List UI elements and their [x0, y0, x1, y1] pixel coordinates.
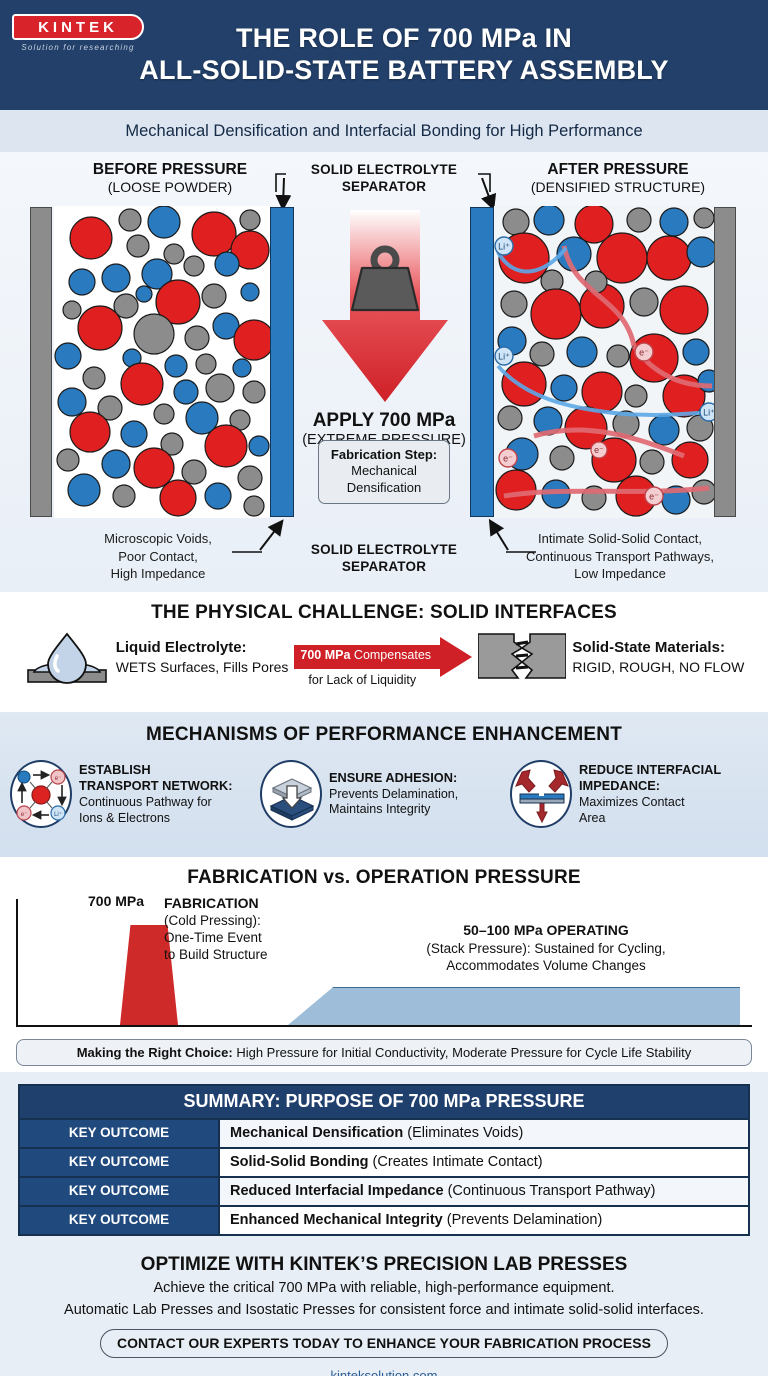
summary-value-1-rest: (Creates Intimate Contact): [369, 1154, 543, 1170]
mechanisms-title: MECHANISMS OF PERFORMANCE ENHANCEMENT: [0, 712, 768, 746]
fabrication-step-box: Fabrication Step: Mechanical Densificati…: [318, 440, 450, 504]
footer-title: OPTIMIZE WITH KINTEK’S PRECISION LAB PRE…: [12, 1254, 756, 1276]
mechanism-text-transport-network: ESTABLISH TRANSPORT NETWORK: Continuous …: [79, 762, 233, 827]
table-row: KEY OUTCOME Enhanced Mechanical Integrit…: [18, 1207, 750, 1236]
before-pressure-title: BEFORE PRESSURE (LOOSE POWDER): [70, 160, 270, 197]
svg-text:e⁻: e⁻: [639, 348, 649, 358]
mechanism-1-desc2: Maintains Integrity: [329, 802, 458, 818]
page-title: THE ROLE OF 700 MPa IN ALL-SOLID-STATE B…: [99, 23, 668, 87]
after-caption-line1: Intimate Solid-Solid Contact,: [500, 530, 740, 548]
separator-bottom-line1: SOLID ELECTROLYTE: [288, 542, 480, 559]
svg-text:e⁻: e⁻: [503, 454, 513, 464]
liquid-electrolyte-desc: WETS Surfaces, Fills Pores: [116, 658, 289, 676]
fabrication-step-title: Fabrication Step:: [331, 447, 437, 462]
page-title-line1: THE ROLE OF 700 MPa IN: [139, 23, 668, 55]
right-electrode: [714, 207, 736, 517]
compensates-arrow-word: Compensates: [350, 648, 431, 662]
table-row: KEY OUTCOME Reduced Interfacial Impedanc…: [18, 1178, 750, 1207]
chart-fab-line3: to Build Structure: [164, 947, 268, 964]
summary-value-2-bold: Reduced Interfacial Impedance: [230, 1183, 444, 1199]
transport-network-icon: e⁻ e⁻ Li⁺: [10, 760, 72, 828]
logo-badge-text: KINTEK: [12, 14, 144, 40]
mechanism-0-desc1: Continuous Pathway for: [79, 795, 233, 811]
summary-heading: SUMMARY: PURPOSE OF 700 MPa PRESSURE: [18, 1084, 750, 1120]
logo-tagline: Solution for researching: [12, 43, 144, 52]
adhesion-layers-icon: [260, 760, 322, 828]
mechanism-2-desc1: Maximizes Contact: [579, 795, 721, 811]
compensates-arrow-subtext: for Lack of Liquidity: [308, 673, 416, 687]
mechanism-item-impedance: REDUCE INTERFACIAL IMPEDANCE: Maximizes …: [510, 760, 758, 828]
mechanism-0-desc2: Ions & Electrons: [79, 811, 233, 827]
separator-top-line1: SOLID ELECTROLYTE: [288, 162, 480, 179]
solid-state-label: Solid-State Materials:: [572, 639, 725, 656]
mechanism-1-desc1: Prevents Delamination,: [329, 787, 458, 803]
table-row: KEY OUTCOME Solid-Solid Bonding (Creates…: [18, 1149, 750, 1178]
svg-text:Li⁺: Li⁺: [498, 352, 510, 362]
after-pressure-title-sub: (DENSIFIED STRUCTURE): [498, 179, 738, 197]
chart-x-axis: [16, 1025, 752, 1027]
compensates-arrow: 700 MPa Compensates for Lack of Liquidit…: [294, 637, 472, 677]
mechanism-item-transport-network: e⁻ e⁻ Li⁺ ESTABLISH TRANSPORT NETWORK: C…: [10, 760, 258, 828]
summary-value-0-bold: Mechanical Densification: [230, 1125, 403, 1141]
summary-value-0: Mechanical Densification (Eliminates Voi…: [220, 1120, 748, 1147]
physical-challenge-section: THE PHYSICAL CHALLENGE: SOLID INTERFACES…: [0, 592, 768, 712]
chart-op-title: 50–100 MPa OPERATING: [463, 922, 628, 938]
chart-op-line1: (Stack Pressure): Sustained for Cycling,: [346, 940, 746, 958]
svg-text:Li⁺: Li⁺: [54, 811, 62, 818]
physical-challenge-title: THE PHYSICAL CHALLENGE: SOLID INTERFACES: [0, 592, 768, 624]
mechanisms-row: e⁻ e⁻ Li⁺ ESTABLISH TRANSPORT NETWORK: C…: [10, 760, 758, 828]
separator-arrow-left-bottom: [260, 524, 280, 550]
before-caption-line2: Poor Contact,: [58, 548, 258, 566]
compression-impedance-icon: [510, 760, 572, 828]
summary-key-1: KEY OUTCOME: [20, 1149, 220, 1176]
summary-value-0-rest: (Eliminates Voids): [403, 1125, 523, 1141]
summary-value-1: Solid-Solid Bonding (Creates Intimate Co…: [220, 1149, 748, 1176]
svg-text:e⁻: e⁻: [55, 776, 62, 782]
before-pressure-caption: Microscopic Voids, Poor Contact, High Im…: [58, 530, 258, 583]
summary-key-0: KEY OUTCOME: [20, 1120, 220, 1147]
right-separator: [470, 207, 494, 517]
separator-top-label: SOLID ELECTROLYTE SEPARATOR: [288, 162, 480, 196]
left-electrode: [30, 207, 52, 517]
chart-operating-annotation: 50–100 MPa OPERATING (Stack Pressure): S…: [346, 921, 746, 975]
table-row: KEY OUTCOME Mechanical Densification (El…: [18, 1120, 750, 1149]
liquid-electrolyte-text: Liquid Electrolyte: WETS Surfaces, Fills…: [116, 638, 289, 676]
mechanism-text-impedance: REDUCE INTERFACIAL IMPEDANCE: Maximizes …: [579, 762, 721, 827]
chart-plot-area: 700 MPa FABRICATION (Cold Pressing): One…: [16, 899, 752, 1027]
summary-value-1-bold: Solid-Solid Bonding: [230, 1154, 369, 1170]
summary-key-2: KEY OUTCOME: [20, 1178, 220, 1205]
separator-bottom-line2: SEPARATOR: [288, 559, 480, 576]
kintek-logo: KINTEK Solution for researching: [12, 14, 144, 52]
separator-arrow-left-top: [283, 178, 284, 205]
chart-title: FABRICATION vs. OPERATION PRESSURE: [0, 857, 768, 889]
page-subtitle: Mechanical Densification and Interfacial…: [0, 110, 768, 152]
footer-section: OPTIMIZE WITH KINTEK’S PRECISION LAB PRE…: [0, 1244, 768, 1376]
pressure-arrow-icon: [320, 210, 450, 405]
rough-surfaces-icon: [478, 632, 566, 682]
after-caption-line3: Low Impedance: [500, 565, 740, 583]
mechanism-0-title1: ESTABLISH: [79, 762, 151, 777]
header: KINTEK Solution for researching THE ROLE…: [0, 0, 768, 110]
summary-section: SUMMARY: PURPOSE OF 700 MPa PRESSURE KEY…: [0, 1072, 768, 1244]
before-caption-line1: Microscopic Voids,: [58, 530, 258, 548]
leader-line-left: [276, 174, 286, 192]
chart-fab-line2: One-Time Event: [164, 930, 268, 947]
summary-key-3: KEY OUTCOME: [20, 1207, 220, 1234]
svg-text:e⁻: e⁻: [649, 492, 659, 502]
compensates-arrow-label: 700 MPa Compensates: [300, 648, 431, 662]
mechanism-text-adhesion: ENSURE ADHESION: Prevents Delamination, …: [329, 770, 458, 818]
choice-bold-label: Making the Right Choice:: [77, 1045, 233, 1060]
summary-value-2: Reduced Interfacial Impedance (Continuou…: [220, 1178, 748, 1205]
separator-bottom-label: SOLID ELECTROLYTE SEPARATOR: [288, 542, 480, 576]
liquid-droplet-icon: [24, 630, 110, 684]
solid-state-text: Solid-State Materials: RIGID, ROUGH, NO …: [572, 638, 744, 676]
pressure-diagram-section: BEFORE PRESSURE (LOOSE POWDER) SOLID ELE…: [0, 152, 768, 592]
chart-fab-title: FABRICATION: [164, 895, 259, 911]
mechanism-0-title2: TRANSPORT NETWORK:: [79, 778, 233, 793]
choice-rest-label: High Pressure for Initial Conductivity, …: [233, 1045, 692, 1060]
compensates-arrow-value: 700 MPa: [300, 648, 350, 662]
page-title-line2: ALL-SOLID-STATE BATTERY ASSEMBLY: [139, 55, 668, 87]
fabrication-step-line2: Densification: [323, 480, 445, 496]
website-url[interactable]: kinteksolution.com: [12, 1368, 756, 1376]
svg-text:e⁻: e⁻: [594, 445, 604, 455]
making-right-choice-bar: Making the Right Choice: High Pressure f…: [16, 1039, 752, 1066]
svg-text:Li⁺: Li⁺: [703, 408, 714, 418]
chart-peak-label: 700 MPa: [88, 893, 144, 909]
svg-text:e⁻: e⁻: [21, 812, 28, 818]
mechanism-2-title2: IMPEDANCE:: [579, 778, 660, 793]
summary-value-2-rest: (Continuous Transport Pathway): [444, 1183, 656, 1199]
compensates-arrow-head: [440, 637, 472, 677]
solid-state-desc: RIGID, ROUGH, NO FLOW: [572, 658, 744, 676]
before-caption-line3: High Impedance: [58, 565, 258, 583]
chart-fabrication-annotation: FABRICATION (Cold Pressing): One-Time Ev…: [164, 895, 268, 964]
after-pressure-title: AFTER PRESSURE (DENSIFIED STRUCTURE): [498, 160, 738, 197]
pressure-chart-section: FABRICATION vs. OPERATION PRESSURE 700 M…: [0, 857, 768, 1072]
footer-line1: Achieve the critical 700 MPa with reliab…: [12, 1279, 756, 1298]
loose-powder-particles: [54, 206, 270, 518]
mechanism-1-title1: ENSURE ADHESION:: [329, 770, 457, 785]
after-pressure-title-main: AFTER PRESSURE: [498, 160, 738, 179]
svg-text:Li⁺: Li⁺: [498, 242, 510, 252]
after-pressure-caption: Intimate Solid-Solid Contact, Continuous…: [500, 530, 740, 583]
summary-value-3-rest: (Prevents Delamination): [443, 1212, 603, 1228]
mechanism-2-desc2: Area: [579, 811, 721, 827]
mechanisms-section: MECHANISMS OF PERFORMANCE ENHANCEMENT: [0, 712, 768, 857]
infographic-page: KINTEK Solution for researching THE ROLE…: [0, 0, 768, 1376]
densified-particles: Li⁺ Li⁺ e⁻ e⁻ e⁻ Li⁺ e⁻: [494, 206, 714, 518]
separator-top-line2: SEPARATOR: [288, 179, 480, 196]
fabrication-step-line1: Mechanical: [323, 463, 445, 479]
liquid-electrolyte-label: Liquid Electrolyte:: [116, 639, 247, 656]
summary-value-3-bold: Enhanced Mechanical Integrity: [230, 1212, 443, 1228]
chart-operating-plateau: [288, 987, 740, 1025]
separator-arrow-right-top: [482, 178, 492, 205]
left-separator: [270, 207, 294, 517]
before-pressure-title-sub: (LOOSE POWDER): [70, 179, 270, 197]
chart-fab-line1: (Cold Pressing):: [164, 913, 268, 930]
summary-value-3: Enhanced Mechanical Integrity (Prevents …: [220, 1207, 748, 1234]
before-pressure-title-main: BEFORE PRESSURE: [70, 160, 270, 179]
mechanism-2-title1: REDUCE INTERFACIAL: [579, 762, 721, 777]
contact-cta-button[interactable]: CONTACT OUR EXPERTS TODAY TO ENHANCE YOU…: [100, 1329, 668, 1358]
physical-challenge-row: Liquid Electrolyte: WETS Surfaces, Fills…: [0, 630, 768, 684]
mechanism-item-adhesion: ENSURE ADHESION: Prevents Delamination, …: [260, 760, 508, 828]
chart-y-axis: [16, 899, 18, 1027]
after-caption-line2: Continuous Transport Pathways,: [500, 548, 740, 566]
footer-line2: Automatic Lab Presses and Isostatic Pres…: [12, 1301, 756, 1320]
apply-pressure-main: APPLY 700 MPa: [284, 410, 484, 432]
chart-op-line2: Accommodates Volume Changes: [346, 957, 746, 975]
